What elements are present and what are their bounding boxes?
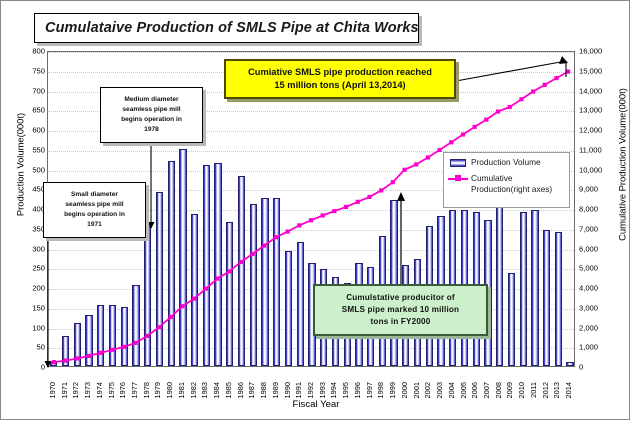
x-axis-tick-label: 1981 — [177, 382, 187, 398]
callout-small-line-3: begins operation in — [44, 210, 145, 220]
cumulative-line-marker — [75, 356, 79, 360]
callout-small-line-1: Small diameter — [44, 190, 145, 200]
x-axis-tick-label: 1984 — [212, 382, 222, 398]
cumulative-line-marker — [543, 83, 547, 87]
legend-label-bars: Production Volume — [471, 157, 541, 168]
cumulative-line-marker — [145, 334, 149, 338]
callout-green-line-3: tons in FY2000 — [315, 316, 486, 328]
cumulative-line-marker — [157, 325, 161, 329]
cumulative-line-marker — [484, 118, 488, 122]
cumulative-line-marker — [332, 209, 336, 213]
x-axis-tick-label: 1987 — [247, 382, 257, 398]
x-axis-tick-label: 1991 — [294, 382, 304, 398]
x-axis-tick-label: 1994 — [329, 382, 339, 398]
cumulative-line-marker — [554, 76, 558, 80]
x-axis-tick-label: 1976 — [118, 382, 128, 398]
cumulative-line-marker — [473, 125, 477, 129]
callout-yellow-line-1: Cumiative SMLS pipe production reached — [226, 66, 454, 79]
cumulative-line-marker — [122, 345, 126, 349]
y-axis-left-tick-label: 150 — [5, 303, 45, 312]
x-axis-tick-label: 2002 — [423, 382, 433, 398]
x-axis-tick-label: 1985 — [224, 382, 234, 398]
cumulative-line-marker — [414, 162, 418, 166]
x-axis-tick-label: 1998 — [376, 382, 386, 398]
chart-legend: Production Volume Cumulative Production(… — [443, 152, 570, 208]
x-axis-tick-label: 1992 — [306, 382, 316, 398]
x-axis-tick-label: 1974 — [95, 382, 105, 398]
x-axis-tick-label: 1995 — [341, 382, 351, 398]
callout-yellow-line-2: 15 million tons (April 13,2014) — [226, 79, 454, 92]
x-axis-tick-label: 1978 — [142, 382, 152, 398]
cumulative-line-marker — [180, 304, 184, 308]
x-axis-tick-label: 1983 — [200, 382, 210, 398]
cumulative-line-marker — [99, 351, 103, 355]
callout-medium-line-4: 1978 — [101, 125, 202, 135]
x-axis-tick-label: 1990 — [283, 382, 293, 398]
cumulative-line-marker — [449, 140, 453, 144]
cumulative-line-marker — [239, 260, 243, 264]
x-axis-tick-label: 2010 — [517, 382, 527, 398]
cumulative-line-marker — [169, 315, 173, 319]
chart-title-box: Cumulataive Production of SMLS Pipe at C… — [34, 13, 419, 43]
cumulative-line-marker — [566, 70, 570, 74]
callout-medium-line-1: Medium diameter — [101, 95, 202, 105]
legend-item-cumulative-production[interactable]: Cumulative Production(right axes) — [447, 173, 566, 195]
cumulative-line-marker — [297, 223, 301, 227]
cumulative-line-marker — [215, 276, 219, 280]
cumulative-line-marker — [192, 297, 196, 301]
cumulative-line-marker — [110, 348, 114, 352]
x-axis-title: Fiscal Year — [1, 399, 630, 410]
cumulative-line-marker — [309, 218, 313, 222]
callout-green-line-1: Cumulstative producitor of — [315, 292, 486, 304]
x-axis-tick-label: 1989 — [271, 382, 281, 398]
cumulative-line-marker — [274, 235, 278, 239]
callout-small-line-4: 1971 — [44, 220, 145, 230]
y-axis-left-tick-label: 200 — [5, 284, 45, 293]
y-axis-right-tick-label: 4,000 — [579, 284, 623, 293]
legend-label-line-1: Cumulative — [471, 173, 513, 183]
x-axis-tick-label: 2003 — [435, 382, 445, 398]
x-axis-tick-label: 1975 — [107, 382, 117, 398]
y-axis-left-title: Production Volume(000t) — [15, 50, 26, 280]
y-axis-left-tick-label: 100 — [5, 323, 45, 332]
x-axis-tick-label: 1999 — [388, 382, 398, 398]
cumulative-line-marker — [134, 341, 138, 345]
x-axis-tick-label: 1982 — [189, 382, 199, 398]
line-marker-icon — [448, 175, 468, 183]
cumulative-line-marker — [63, 359, 67, 363]
cumulative-line-marker — [437, 148, 441, 152]
x-axis-tick-label: 1971 — [60, 382, 70, 398]
x-axis-tick-label: 1988 — [259, 382, 269, 398]
x-axis-tick-label: 1973 — [83, 382, 93, 398]
legend-item-production-volume[interactable]: Production Volume — [447, 157, 566, 168]
x-axis-tick-label: 2006 — [470, 382, 480, 398]
y-axis-right-title: Cumulative Production Volume(000t) — [617, 50, 628, 280]
cumulative-line-marker — [262, 244, 266, 248]
page-title: Cumulataive Production of SMLS Pipe at C… — [35, 20, 419, 36]
cumulative-line-marker — [286, 229, 290, 233]
cumulative-line-marker — [496, 109, 500, 113]
x-axis-tick-label: 1993 — [318, 382, 328, 398]
x-axis-tick-label: 1972 — [71, 382, 81, 398]
cumulative-line-marker — [250, 252, 254, 256]
x-axis-tick-label: 2008 — [494, 382, 504, 398]
x-axis-tick-label: 2013 — [552, 382, 562, 398]
x-axis-tick-label: 1980 — [165, 382, 175, 398]
cumulative-line-marker — [508, 105, 512, 109]
y-axis-left-tick-label: 0 — [5, 363, 45, 372]
cumulative-line-marker — [519, 97, 523, 101]
cumulative-line-marker — [379, 188, 383, 192]
y-axis-right-tick-label: 3,000 — [579, 303, 623, 312]
x-axis-tick-label: 2014 — [564, 382, 574, 398]
chart-page: Cumulataive Production of SMLS Pipe at C… — [0, 0, 630, 420]
x-axis-tick-label: 2000 — [400, 382, 410, 398]
callout-small-diameter-mill: Small diameter seamless pipe mill begins… — [43, 182, 146, 238]
x-axis-tick-label: 2011 — [529, 382, 539, 398]
cumulative-line-marker — [531, 89, 535, 93]
y-axis-right-tick-label: 2,000 — [579, 323, 623, 332]
callout-medium-line-2: seamless pipe mill — [101, 105, 202, 115]
y-axis-right-tick-label: 1,000 — [579, 343, 623, 352]
bar-swatch-icon — [450, 159, 466, 167]
x-axis-tick-label: 2005 — [459, 382, 469, 398]
callout-15-million-tons: Cumiative SMLS pipe production reached 1… — [224, 59, 456, 99]
cumulative-line-marker — [204, 287, 208, 291]
x-axis-tick-label: 1970 — [48, 382, 58, 398]
x-axis-tick-label: 1986 — [236, 382, 246, 398]
x-axis-tick-label: 2007 — [482, 382, 492, 398]
cumulative-line-marker — [391, 180, 395, 184]
cumulative-line-marker — [356, 200, 360, 204]
x-axis-tick-label: 1977 — [130, 382, 140, 398]
cumulative-line-marker — [87, 354, 91, 358]
cumulative-line-marker — [402, 168, 406, 172]
callout-green-line-2: SMLS pipe marked 10 million — [315, 304, 486, 316]
x-axis-tick-label: 2009 — [505, 382, 515, 398]
cumulative-line-marker — [227, 269, 231, 273]
callout-10-million-tons: Cumulstative producitor of SMLS pipe mar… — [313, 284, 488, 336]
y-axis-left-tick-label: 50 — [5, 343, 45, 352]
x-axis-ticks: 1970197119721973197419751976197719781979… — [47, 368, 575, 398]
cumulative-line-marker — [52, 360, 56, 364]
x-axis-tick-label: 1996 — [353, 382, 363, 398]
callout-medium-diameter-mill: Medium diameter seamless pipe mill begin… — [100, 87, 203, 143]
x-axis-tick-label: 1979 — [153, 382, 163, 398]
cumulative-line-marker — [367, 195, 371, 199]
callout-medium-line-3: begins operation in — [101, 115, 202, 125]
x-axis-tick-label: 2004 — [447, 382, 457, 398]
cumulative-line-marker — [426, 155, 430, 159]
legend-label-line-2: Production(right axes) — [471, 184, 552, 194]
x-axis-tick-label: 1997 — [365, 382, 375, 398]
cumulative-line-marker — [344, 205, 348, 209]
x-axis-tick-label: 2012 — [541, 382, 551, 398]
callout-small-line-2: seamless pipe mill — [44, 200, 145, 210]
y-axis-right-tick-label: 0 — [579, 363, 623, 372]
cumulative-line-marker — [461, 132, 465, 136]
x-axis-tick-label: 2001 — [412, 382, 422, 398]
cumulative-line-marker — [321, 213, 325, 217]
